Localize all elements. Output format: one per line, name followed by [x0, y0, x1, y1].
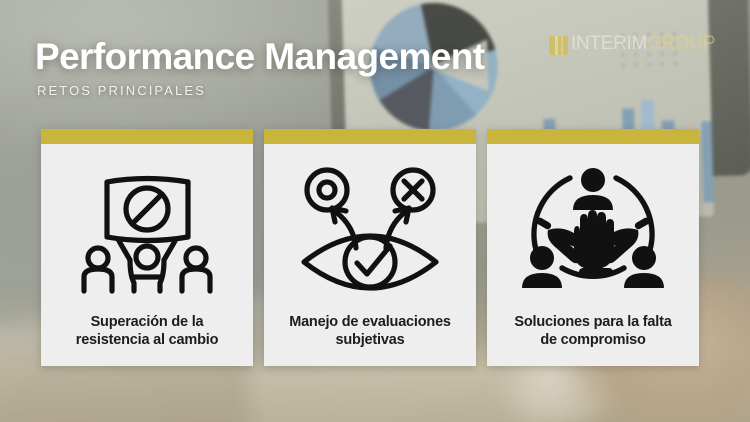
logo-word-primary: INTERIM [571, 33, 647, 54]
card-label-line-2: resistencia al cambio [76, 332, 219, 348]
slide-canvas: INTERIMGROUP Global_HR_Solutions Perform… [0, 0, 750, 422]
card-label: Soluciones para la falta de compromiso [487, 313, 699, 366]
card-accent-bar [264, 129, 476, 144]
logo-mark-icon [549, 36, 568, 55]
card-label-line-2: de compromiso [540, 332, 645, 348]
card-label-line-2: subjetivas [336, 332, 405, 348]
card-label-line-1: Superación de la [91, 314, 204, 330]
card-resistencia-al-cambio[interactable]: Superación de la resistencia al cambio [41, 129, 253, 366]
card-accent-bar [41, 129, 253, 144]
teamwork-hands-circle-icon [487, 144, 699, 313]
card-label: Manejo de evaluaciones subjetivas [264, 313, 476, 366]
page-subtitle: RETOS PRINCIPALES [37, 83, 206, 98]
cards-row: Superación de la resistencia al cambio [41, 129, 709, 366]
card-falta-de-compromiso[interactable]: Soluciones para la falta de compromiso [487, 129, 699, 366]
logo-tagline: Global_HR_Solutions [572, 54, 689, 60]
eye-checkmark-target-cross-icon [264, 144, 476, 313]
card-label: Superación de la resistencia al cambio [41, 313, 253, 366]
protest-sign-no-symbol-icon [41, 144, 253, 313]
interim-group-logo: INTERIMGROUP Global_HR_Solutions [549, 33, 709, 67]
card-evaluaciones-subjetivas[interactable]: Manejo de evaluaciones subjetivas [264, 129, 476, 366]
logo-word-secondary: GROUP [647, 33, 715, 54]
card-label-line-1: Manejo de evaluaciones [289, 314, 451, 330]
card-label-line-1: Soluciones para la falta [514, 314, 671, 330]
logo-wordmark: INTERIMGROUP [571, 33, 715, 55]
page-title: Performance Management [35, 36, 484, 78]
card-accent-bar [487, 129, 699, 144]
